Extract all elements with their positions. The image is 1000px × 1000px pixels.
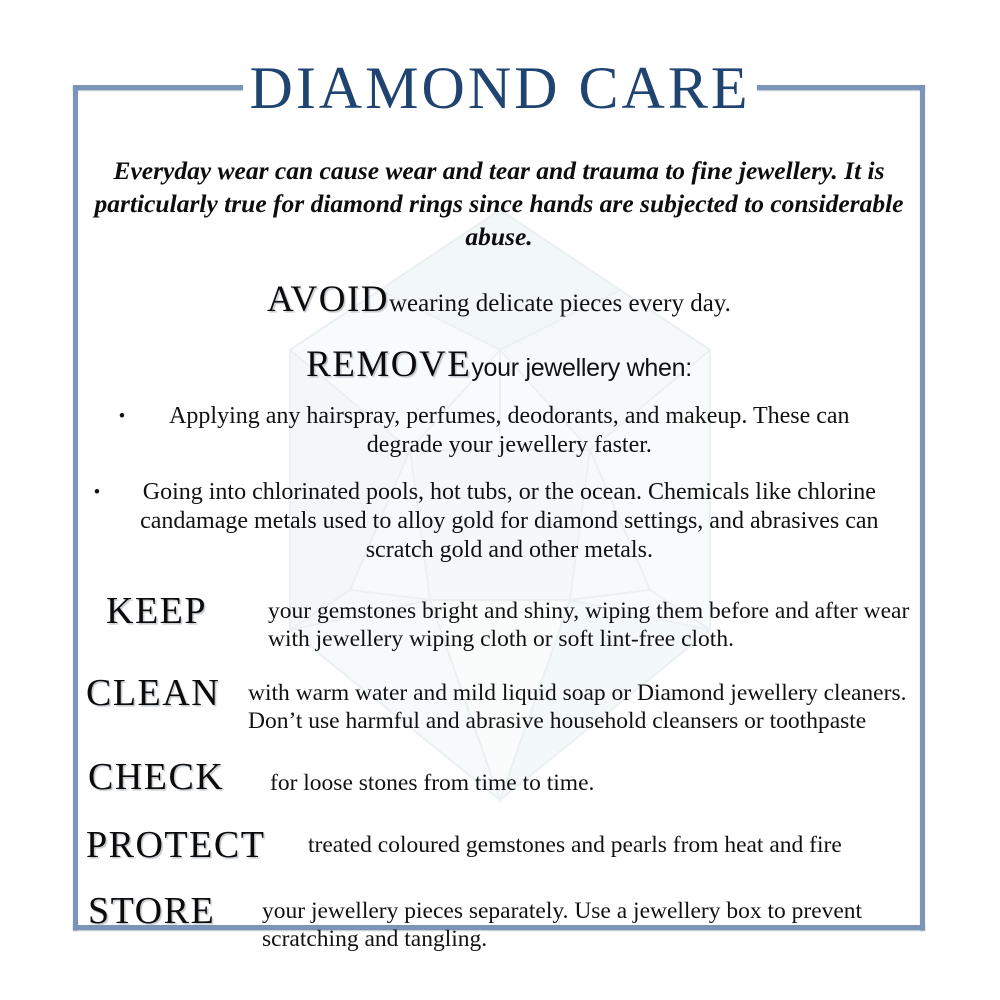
- keep-keyword-cell: KEEP: [78, 591, 268, 631]
- store-text: your jewellery pieces separately. Use a …: [262, 891, 920, 953]
- intro-paragraph: Everyday wear can cause wear and tear an…: [78, 154, 920, 253]
- remove-keyword: REMOVE: [306, 344, 471, 385]
- bullet-dot-icon: •: [94, 478, 101, 507]
- section-keep: KEEP your gemstones bright and shiny, wi…: [78, 591, 920, 653]
- list-item-text: Going into chlorinated pools, hot tubs, …: [114, 478, 904, 565]
- list-item-text: Applying any hairspray, perfumes, deodor…: [139, 402, 879, 460]
- list-item: • Applying any hairspray, perfumes, deod…: [78, 402, 920, 460]
- clean-keyword: CLEAN: [86, 672, 220, 714]
- list-item: • Going into chlorinated pools, hot tubs…: [78, 478, 920, 565]
- protect-text: treated coloured gemstones and pearls fr…: [308, 825, 920, 859]
- avoid-keyword: AVOID: [267, 279, 389, 320]
- section-clean: CLEAN with warm water and mild liquid so…: [78, 673, 920, 735]
- keep-text: your gemstones bright and shiny, wiping …: [268, 591, 920, 653]
- store-keyword: STORE: [88, 890, 215, 932]
- store-keyword-cell: STORE: [78, 891, 262, 931]
- section-check: CHECK for loose stones from time to time…: [78, 757, 920, 797]
- clean-text: with warm water and mild liquid soap or …: [248, 673, 920, 735]
- section-store: STORE your jewellery pieces separately. …: [78, 891, 920, 953]
- avoid-text: wearing delicate pieces every day.: [389, 290, 731, 317]
- frame-right-edge: [920, 85, 925, 930]
- avoid-row: AVOIDwearing delicate pieces every day.: [78, 278, 920, 321]
- check-text: for loose stones from time to time.: [270, 757, 920, 797]
- remove-text: your jewellery when:: [471, 354, 692, 382]
- protect-keyword-cell: PROTECT: [78, 825, 308, 865]
- remove-bullet-list: • Applying any hairspray, perfumes, deod…: [78, 402, 920, 565]
- clean-keyword-cell: CLEAN: [78, 673, 248, 713]
- diamond-care-poster: DIAMOND CARE Everyday wear can cause wea…: [0, 0, 1000, 1000]
- bullet-dot-icon: •: [119, 402, 126, 431]
- poster-content: Everyday wear can cause wear and tear an…: [78, 128, 920, 953]
- check-keyword: CHECK: [88, 756, 224, 798]
- section-protect: PROTECT treated coloured gemstones and p…: [78, 825, 920, 865]
- protect-keyword: PROTECT: [86, 824, 265, 866]
- keep-keyword: KEEP: [106, 590, 207, 632]
- remove-row: REMOVEyour jewellery when:: [78, 343, 920, 386]
- page-title: DIAMOND CARE: [0, 57, 1000, 119]
- check-keyword-cell: CHECK: [78, 757, 270, 797]
